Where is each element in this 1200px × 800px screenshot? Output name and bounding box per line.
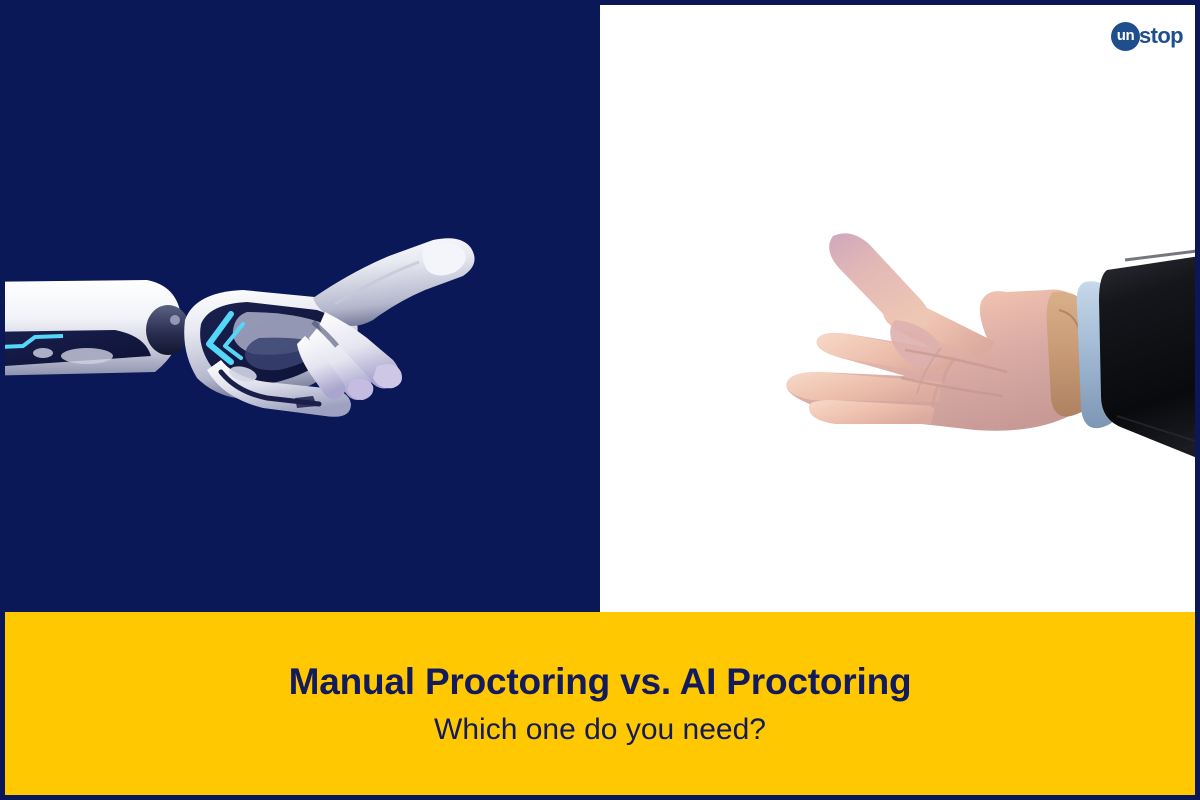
robotic-hand-illustration bbox=[5, 220, 495, 450]
human-thumb bbox=[829, 233, 928, 332]
suit-sleeve-seam bbox=[1125, 248, 1195, 260]
robot-forearm-detail-large bbox=[61, 348, 113, 364]
left-panel-ai bbox=[5, 5, 600, 612]
unstop-logo-mark: un bbox=[1111, 22, 1140, 51]
robot-forearm-detail-small bbox=[33, 348, 53, 358]
hero-image-area: un stop bbox=[5, 5, 1195, 612]
banner-subtitle: Which one do you need? bbox=[434, 713, 766, 747]
right-panel-manual bbox=[600, 5, 1195, 612]
promo-banner: un stop Manual Proctoring vs. AI Proctor… bbox=[0, 0, 1200, 800]
robot-thumb-panel-notch bbox=[295, 396, 317, 408]
robot-wrist-joint bbox=[146, 305, 190, 355]
robot-wrist-bolt bbox=[170, 315, 180, 325]
caption-band: Manual Proctoring vs. AI Proctoring Whic… bbox=[5, 612, 1195, 795]
human-hand-photo-illustration bbox=[655, 230, 1195, 500]
banner-title: Manual Proctoring vs. AI Proctoring bbox=[289, 661, 912, 703]
unstop-logo[interactable]: un stop bbox=[1111, 21, 1183, 51]
unstop-logo-wordmark: stop bbox=[1139, 25, 1183, 47]
